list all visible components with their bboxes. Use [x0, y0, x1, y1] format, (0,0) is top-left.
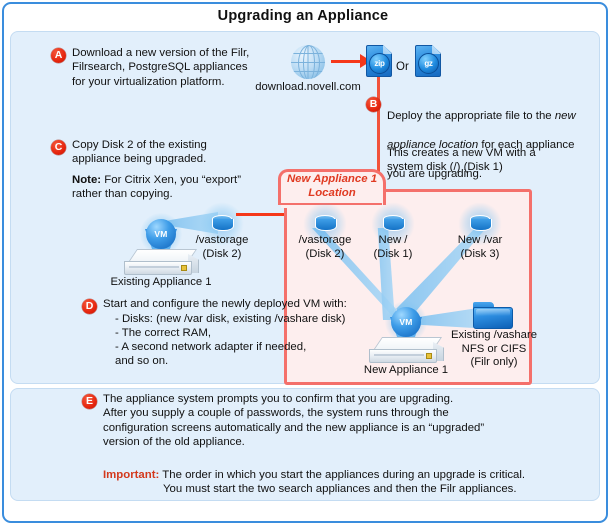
page-title: Upgrading an Appliance	[0, 8, 606, 24]
step-c-text: Copy Disk 2 of the existing appliance be…	[72, 138, 287, 167]
new-appliance-location-label: New Appliance 1 Location	[278, 173, 386, 200]
step-d-bullet-3: and so on.	[115, 354, 365, 368]
step-d-bullet-2: - A second network adapter if needed,	[115, 340, 365, 354]
globe-label: download.novell.com	[252, 81, 364, 95]
existing-vm-label: VM	[146, 219, 176, 249]
step-e-important: Important: The order in which you start …	[103, 468, 583, 482]
globe-icon	[291, 45, 325, 79]
step-d-bullet-0: - Disks: (new /var disk, existing /vasha…	[115, 312, 365, 326]
step-badge-e: E	[82, 394, 97, 409]
vashare-label: Existing /vashare NFS or CIFS (Filr only…	[449, 329, 539, 370]
step-badge-c: C	[51, 140, 66, 155]
new-appliance-label: New Appliance 1	[351, 364, 461, 378]
new-vm-label: VM	[391, 307, 421, 337]
vashare-folder-icon	[473, 300, 513, 330]
new-var-disk-label: New /var (Disk 3)	[440, 234, 520, 261]
diagram-canvas: Upgrading an Appliance A Download a new …	[0, 0, 610, 525]
gz-file-icon: gz	[415, 45, 441, 77]
existing-appliance-label: Existing Appliance 1	[106, 276, 216, 290]
step-b-line1-em: new	[555, 110, 576, 122]
existing-disk-label: /vastorage (Disk 2)	[182, 234, 262, 261]
step-e-important-label: Important:	[103, 469, 159, 481]
step-badge-d: D	[82, 299, 97, 314]
step-c-note-label: Note:	[72, 174, 101, 186]
new-root-disk-label: New / (Disk 1)	[353, 234, 433, 261]
or-label: Or	[396, 61, 409, 73]
step-badge-b: B	[366, 97, 381, 112]
step-e-text: The appliance system prompts you to conf…	[103, 392, 573, 450]
step-e-important-text: The order in which you start the applian…	[159, 469, 525, 481]
arrow-globe-to-zip-line	[331, 60, 362, 63]
step-b-text-2: This creates a new VM with a system disk…	[387, 146, 592, 175]
zip-file-icon: zip	[366, 45, 392, 77]
step-d-text: Start and configure the newly deployed V…	[103, 297, 353, 311]
step-badge-a: A	[51, 48, 66, 63]
zip-file-label: zip	[369, 53, 390, 74]
new-appliance-vm-node: VM	[363, 303, 449, 365]
step-b-line1-pre: Deploy the appropriate file to the	[387, 110, 555, 122]
gz-file-label: gz	[418, 53, 439, 74]
step-e-important-text2: You must start the two search appliances…	[163, 482, 583, 496]
step-c-note: Note: For Citrix Xen, you “export” rathe…	[72, 173, 297, 202]
step-d-bullet-1: - The correct RAM,	[115, 326, 365, 340]
